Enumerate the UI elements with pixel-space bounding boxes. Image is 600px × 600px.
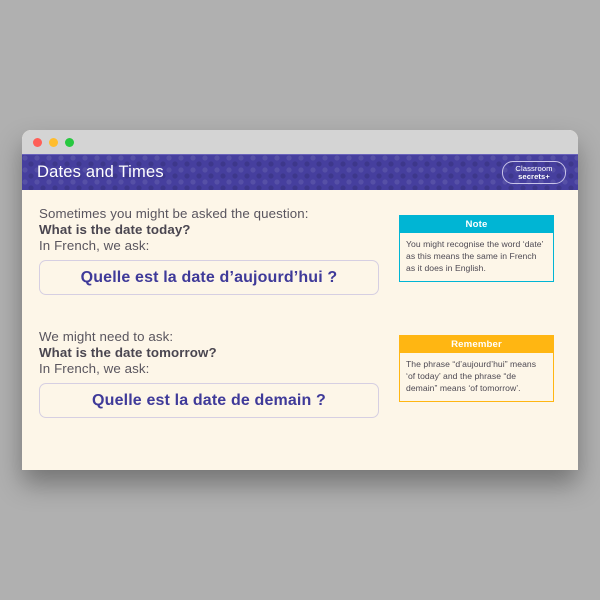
answer-text: Quelle est la date de demain ? bbox=[92, 392, 326, 410]
slide-body: Sometimes you might be asked the questio… bbox=[22, 190, 578, 470]
answer-box: Quelle est la date de demain ? bbox=[39, 383, 379, 418]
close-button[interactable] bbox=[33, 138, 42, 147]
callout-note-title: Note bbox=[399, 215, 554, 233]
answer-text: Quelle est la date d’aujourd’hui ? bbox=[81, 269, 338, 287]
question-text: What is the date today? bbox=[39, 222, 379, 237]
lead-text: We might need to ask: bbox=[39, 329, 379, 344]
classroom-secrets-logo: Classroom secrets+ bbox=[502, 161, 566, 184]
prompt-text: In French, we ask: bbox=[39, 361, 379, 376]
callout-remember-title: Remember bbox=[399, 335, 554, 353]
answer-box: Quelle est la date d’aujourd’hui ? bbox=[39, 260, 379, 295]
minimize-button[interactable] bbox=[49, 138, 58, 147]
content-column: Sometimes you might be asked the questio… bbox=[39, 206, 379, 470]
callout-remember-body: The phrase “d’aujourd’hui” means ‘of tod… bbox=[399, 353, 554, 402]
callout-note: Note You might recognise the word ‘date’… bbox=[399, 215, 554, 282]
content-block-tomorrow: We might need to ask: What is the date t… bbox=[39, 329, 379, 418]
callout-remember: Remember The phrase “d’aujourd’hui” mean… bbox=[399, 335, 554, 402]
logo-line-two: secrets+ bbox=[518, 173, 550, 181]
maximize-button[interactable] bbox=[65, 138, 74, 147]
lead-text: Sometimes you might be asked the questio… bbox=[39, 206, 379, 221]
callout-note-body: You might recognise the word ‘date’ as t… bbox=[399, 233, 554, 282]
slide-header: Dates and Times Classroom secrets+ bbox=[22, 154, 578, 190]
block-spacer bbox=[39, 295, 379, 329]
prompt-text: In French, we ask: bbox=[39, 238, 379, 253]
window-title-bar bbox=[22, 130, 578, 154]
app-window: Dates and Times Classroom secrets+ Somet… bbox=[22, 130, 578, 470]
content-block-today: Sometimes you might be asked the questio… bbox=[39, 206, 379, 295]
callout-column: Note You might recognise the word ‘date’… bbox=[379, 206, 561, 470]
page-title: Dates and Times bbox=[37, 163, 164, 182]
question-text: What is the date tomorrow? bbox=[39, 345, 379, 360]
